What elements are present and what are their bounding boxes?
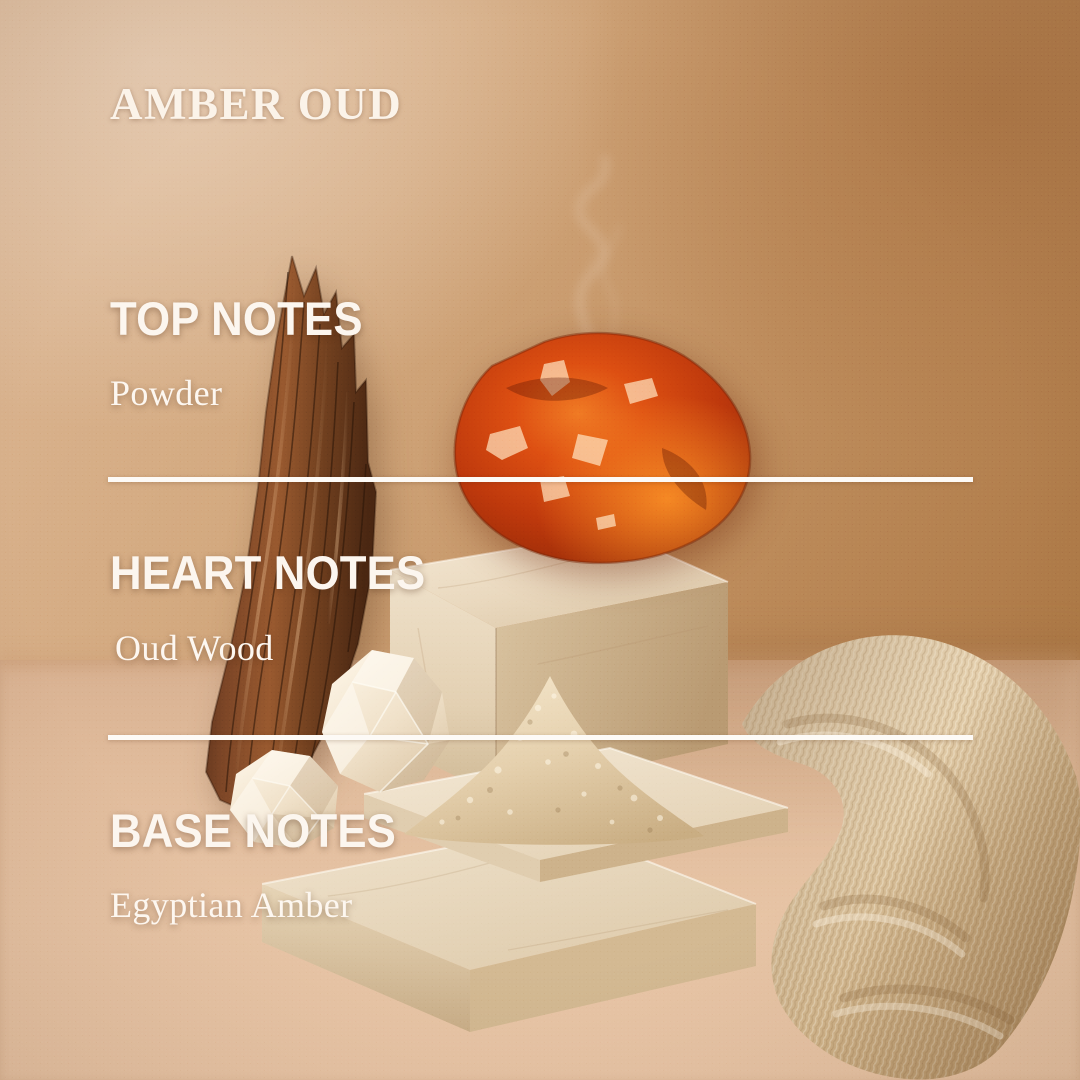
heart-notes-heading: HEART NOTES — [110, 545, 425, 600]
text-overlay: AMBER OUD TOP NOTES Powder HEART NOTES O… — [0, 0, 1080, 1080]
top-notes-heading: TOP NOTES — [110, 291, 363, 346]
heart-notes-value: Oud Wood — [115, 627, 274, 669]
page-title: AMBER OUD — [110, 78, 402, 130]
base-notes-value: Egyptian Amber — [110, 884, 353, 926]
divider-top-heart — [108, 477, 973, 482]
top-notes-value: Powder — [110, 372, 222, 414]
fragrance-notes-card: AMBER OUD TOP NOTES Powder HEART NOTES O… — [0, 0, 1080, 1080]
divider-heart-base — [108, 735, 973, 740]
base-notes-heading: BASE NOTES — [110, 803, 396, 858]
